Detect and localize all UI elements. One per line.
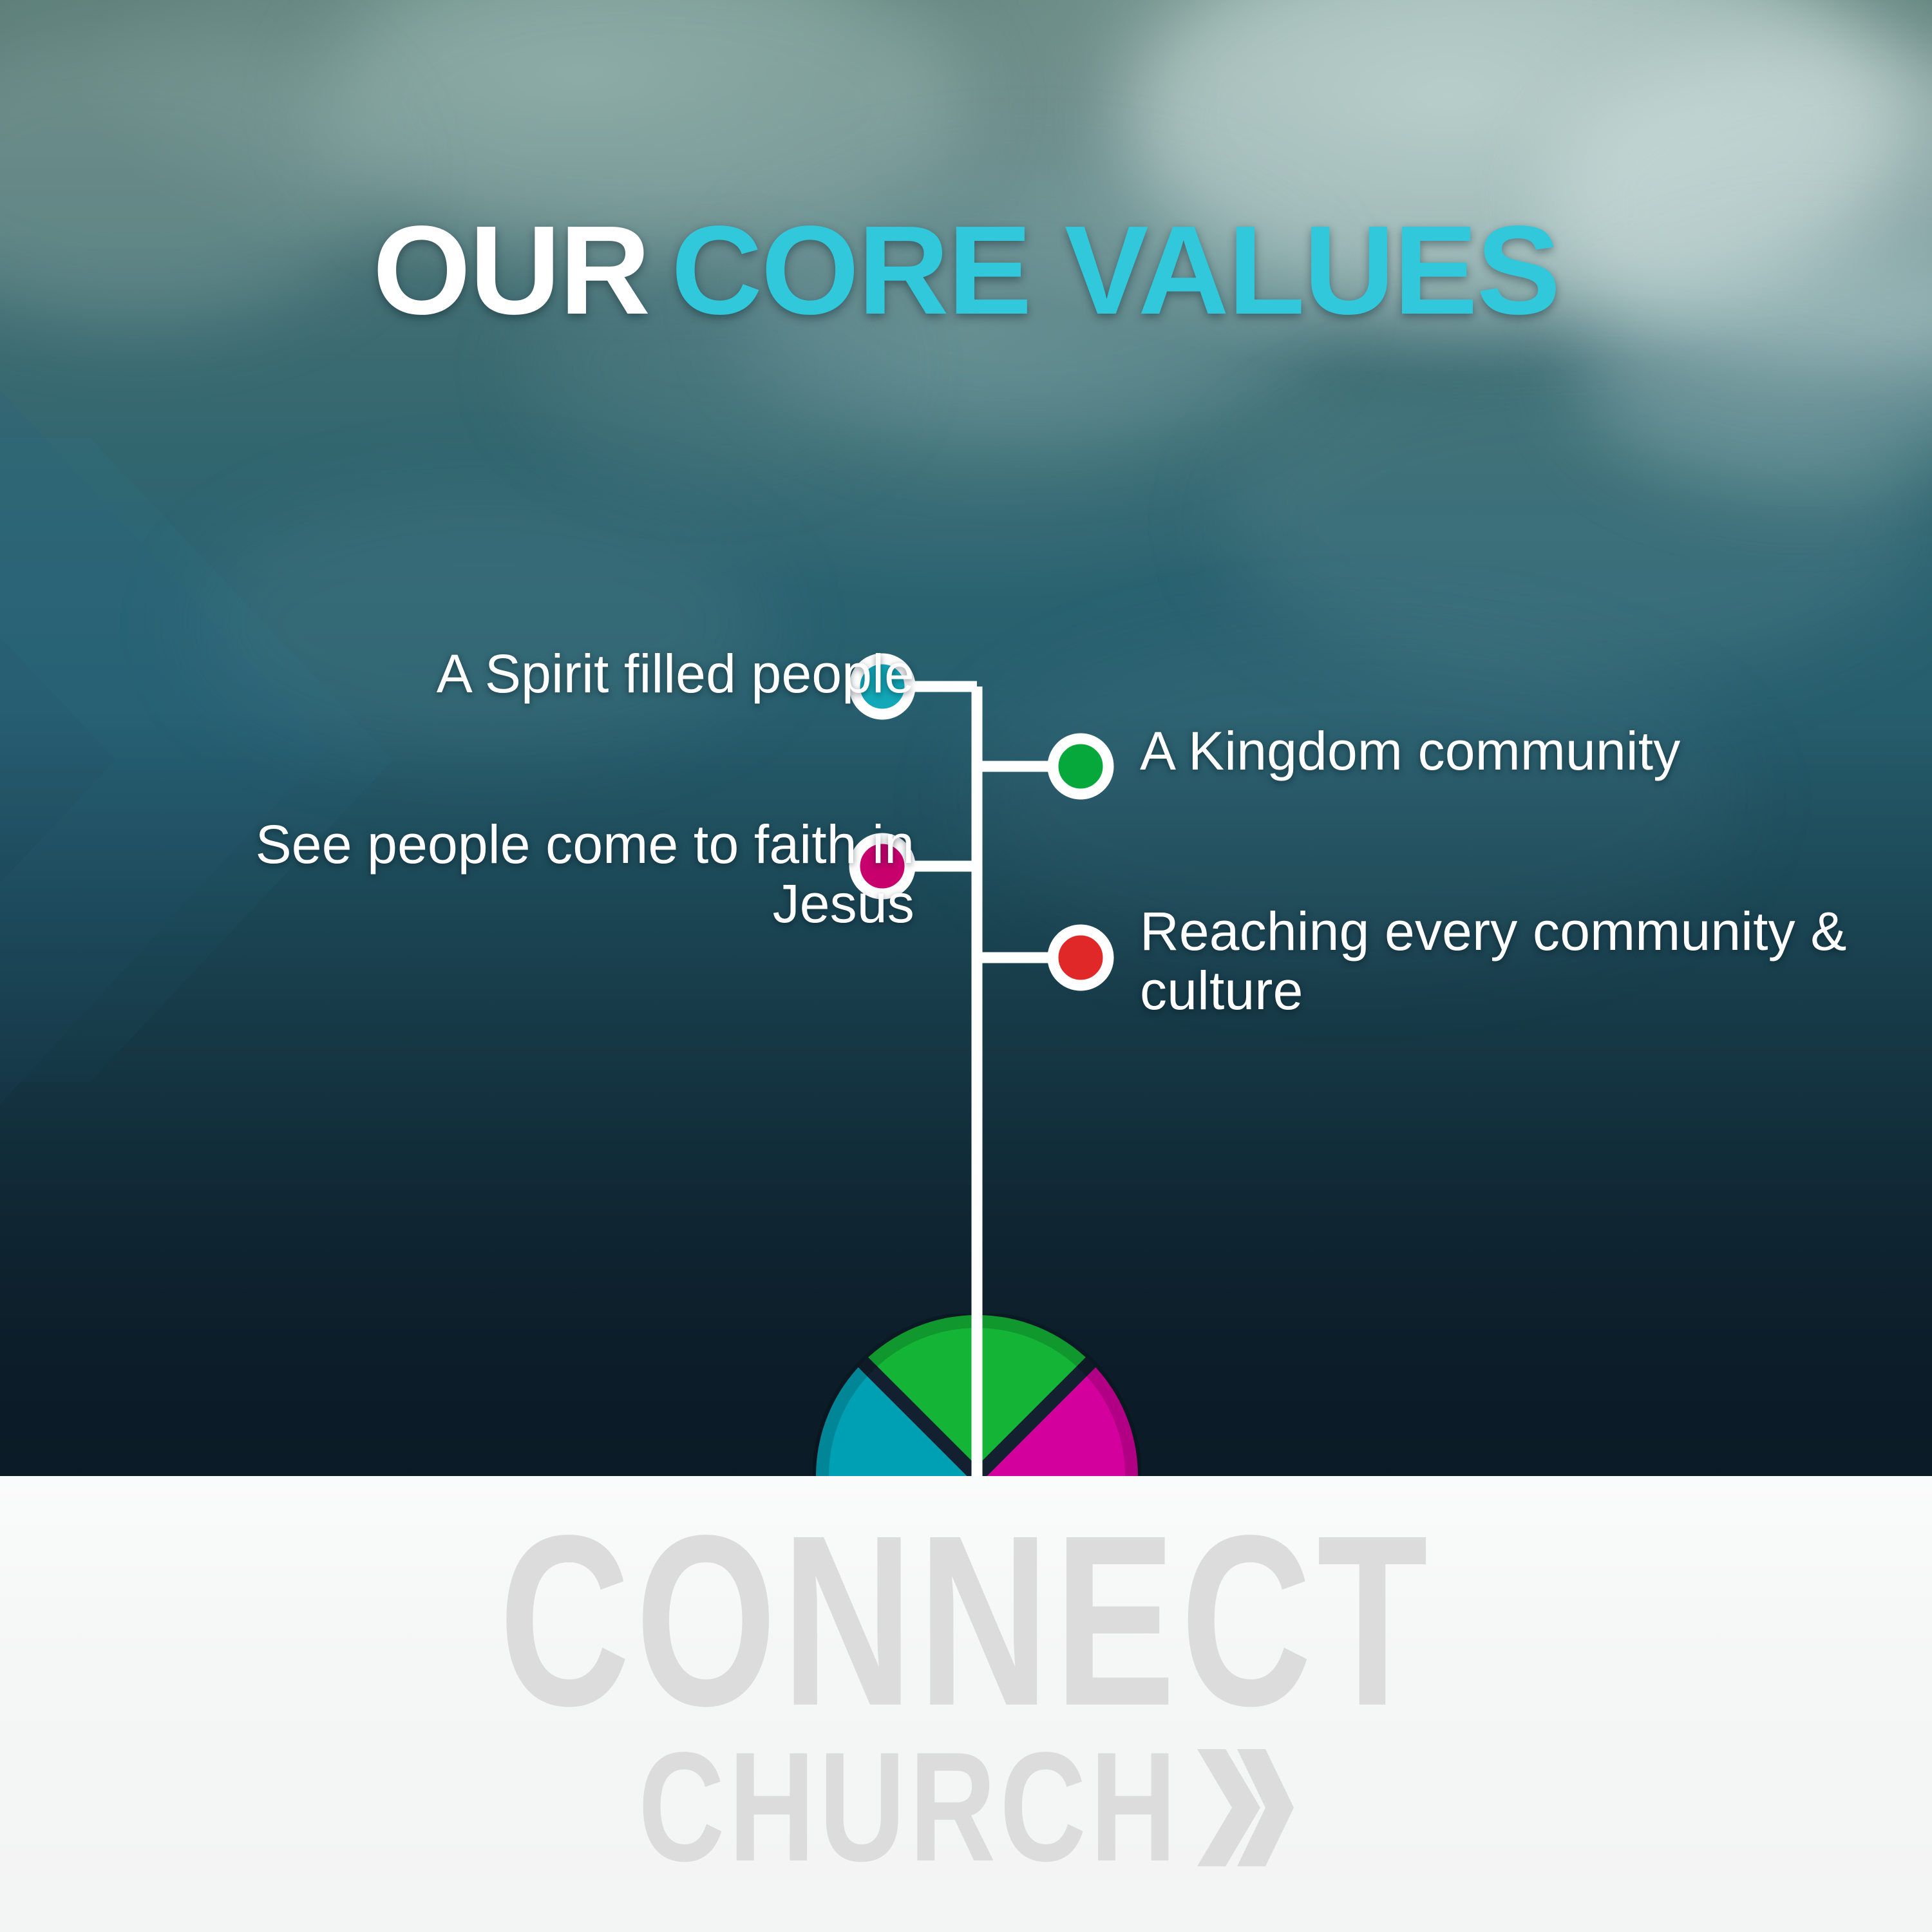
double-chevron-right-icon bbox=[1197, 1747, 1294, 1869]
church-wordmark: CHURCH bbox=[638, 1730, 1180, 1886]
value-label-spirit: A Spirit filled people bbox=[142, 644, 914, 703]
connect-wordmark: CONNECT bbox=[0, 1499, 1932, 1743]
title-word-our: OUR bbox=[373, 200, 650, 341]
church-submark-row: CHURCH bbox=[0, 1747, 1932, 1869]
logo-band: CONNECT CHURCH bbox=[0, 1476, 1932, 1932]
title-word-core-values: CORE VALUES bbox=[671, 200, 1559, 341]
poster-canvas: OURCORE VALUES bbox=[0, 0, 1932, 1932]
value-label-faith: See people come to faith in Jesus bbox=[142, 815, 914, 934]
value-label-reaching: Reaching every community & culture bbox=[1140, 902, 1913, 1021]
page-title: OURCORE VALUES bbox=[0, 207, 1932, 334]
value-label-kingdom: A Kingdom community bbox=[1140, 721, 1913, 781]
